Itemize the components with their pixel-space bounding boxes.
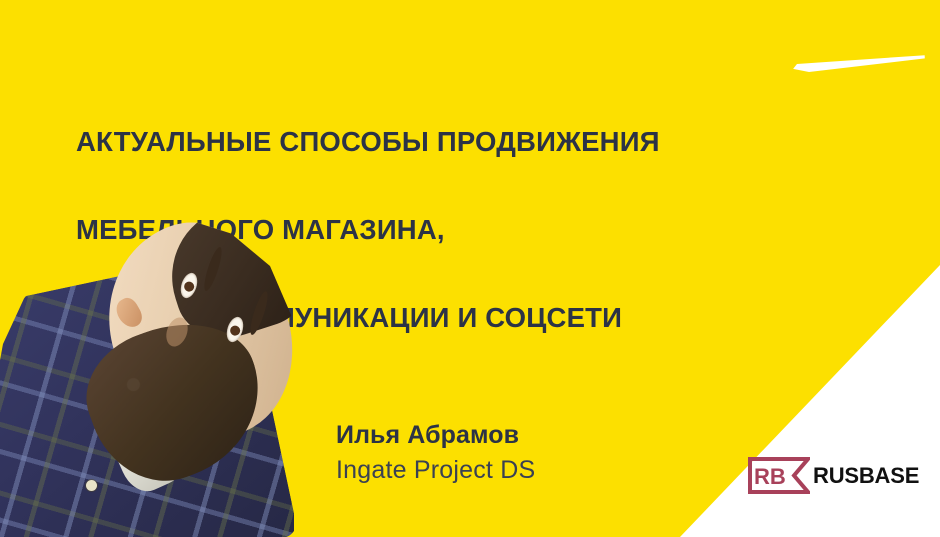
shirt-button: [86, 480, 97, 491]
svg-text:RB: RB: [754, 464, 786, 489]
speaker-block: Илья Абрамов Ingate Project DS: [336, 418, 535, 488]
portrait-clip: [0, 214, 294, 537]
speaker-name: Илья Абрамов: [336, 418, 535, 452]
rb-pennant-icon: RB: [748, 457, 810, 494]
rusbase-wordmark: RUSBASE: [813, 465, 919, 487]
speaker-role: Ingate Project DS: [336, 452, 535, 488]
rusbase-logo: RB RUSBASE: [748, 457, 919, 494]
presentation-slide: АКТУАЛЬНЫЕ СПОСОБЫ ПРОДВИЖЕНИЯ МЕБЕЛЬНОГ…: [0, 0, 940, 537]
headline-line-1: АКТУАЛЬНЫЕ СПОСОБЫ ПРОДВИЖЕНИЯ: [76, 120, 796, 164]
speaker-portrait-photo: [0, 214, 294, 537]
